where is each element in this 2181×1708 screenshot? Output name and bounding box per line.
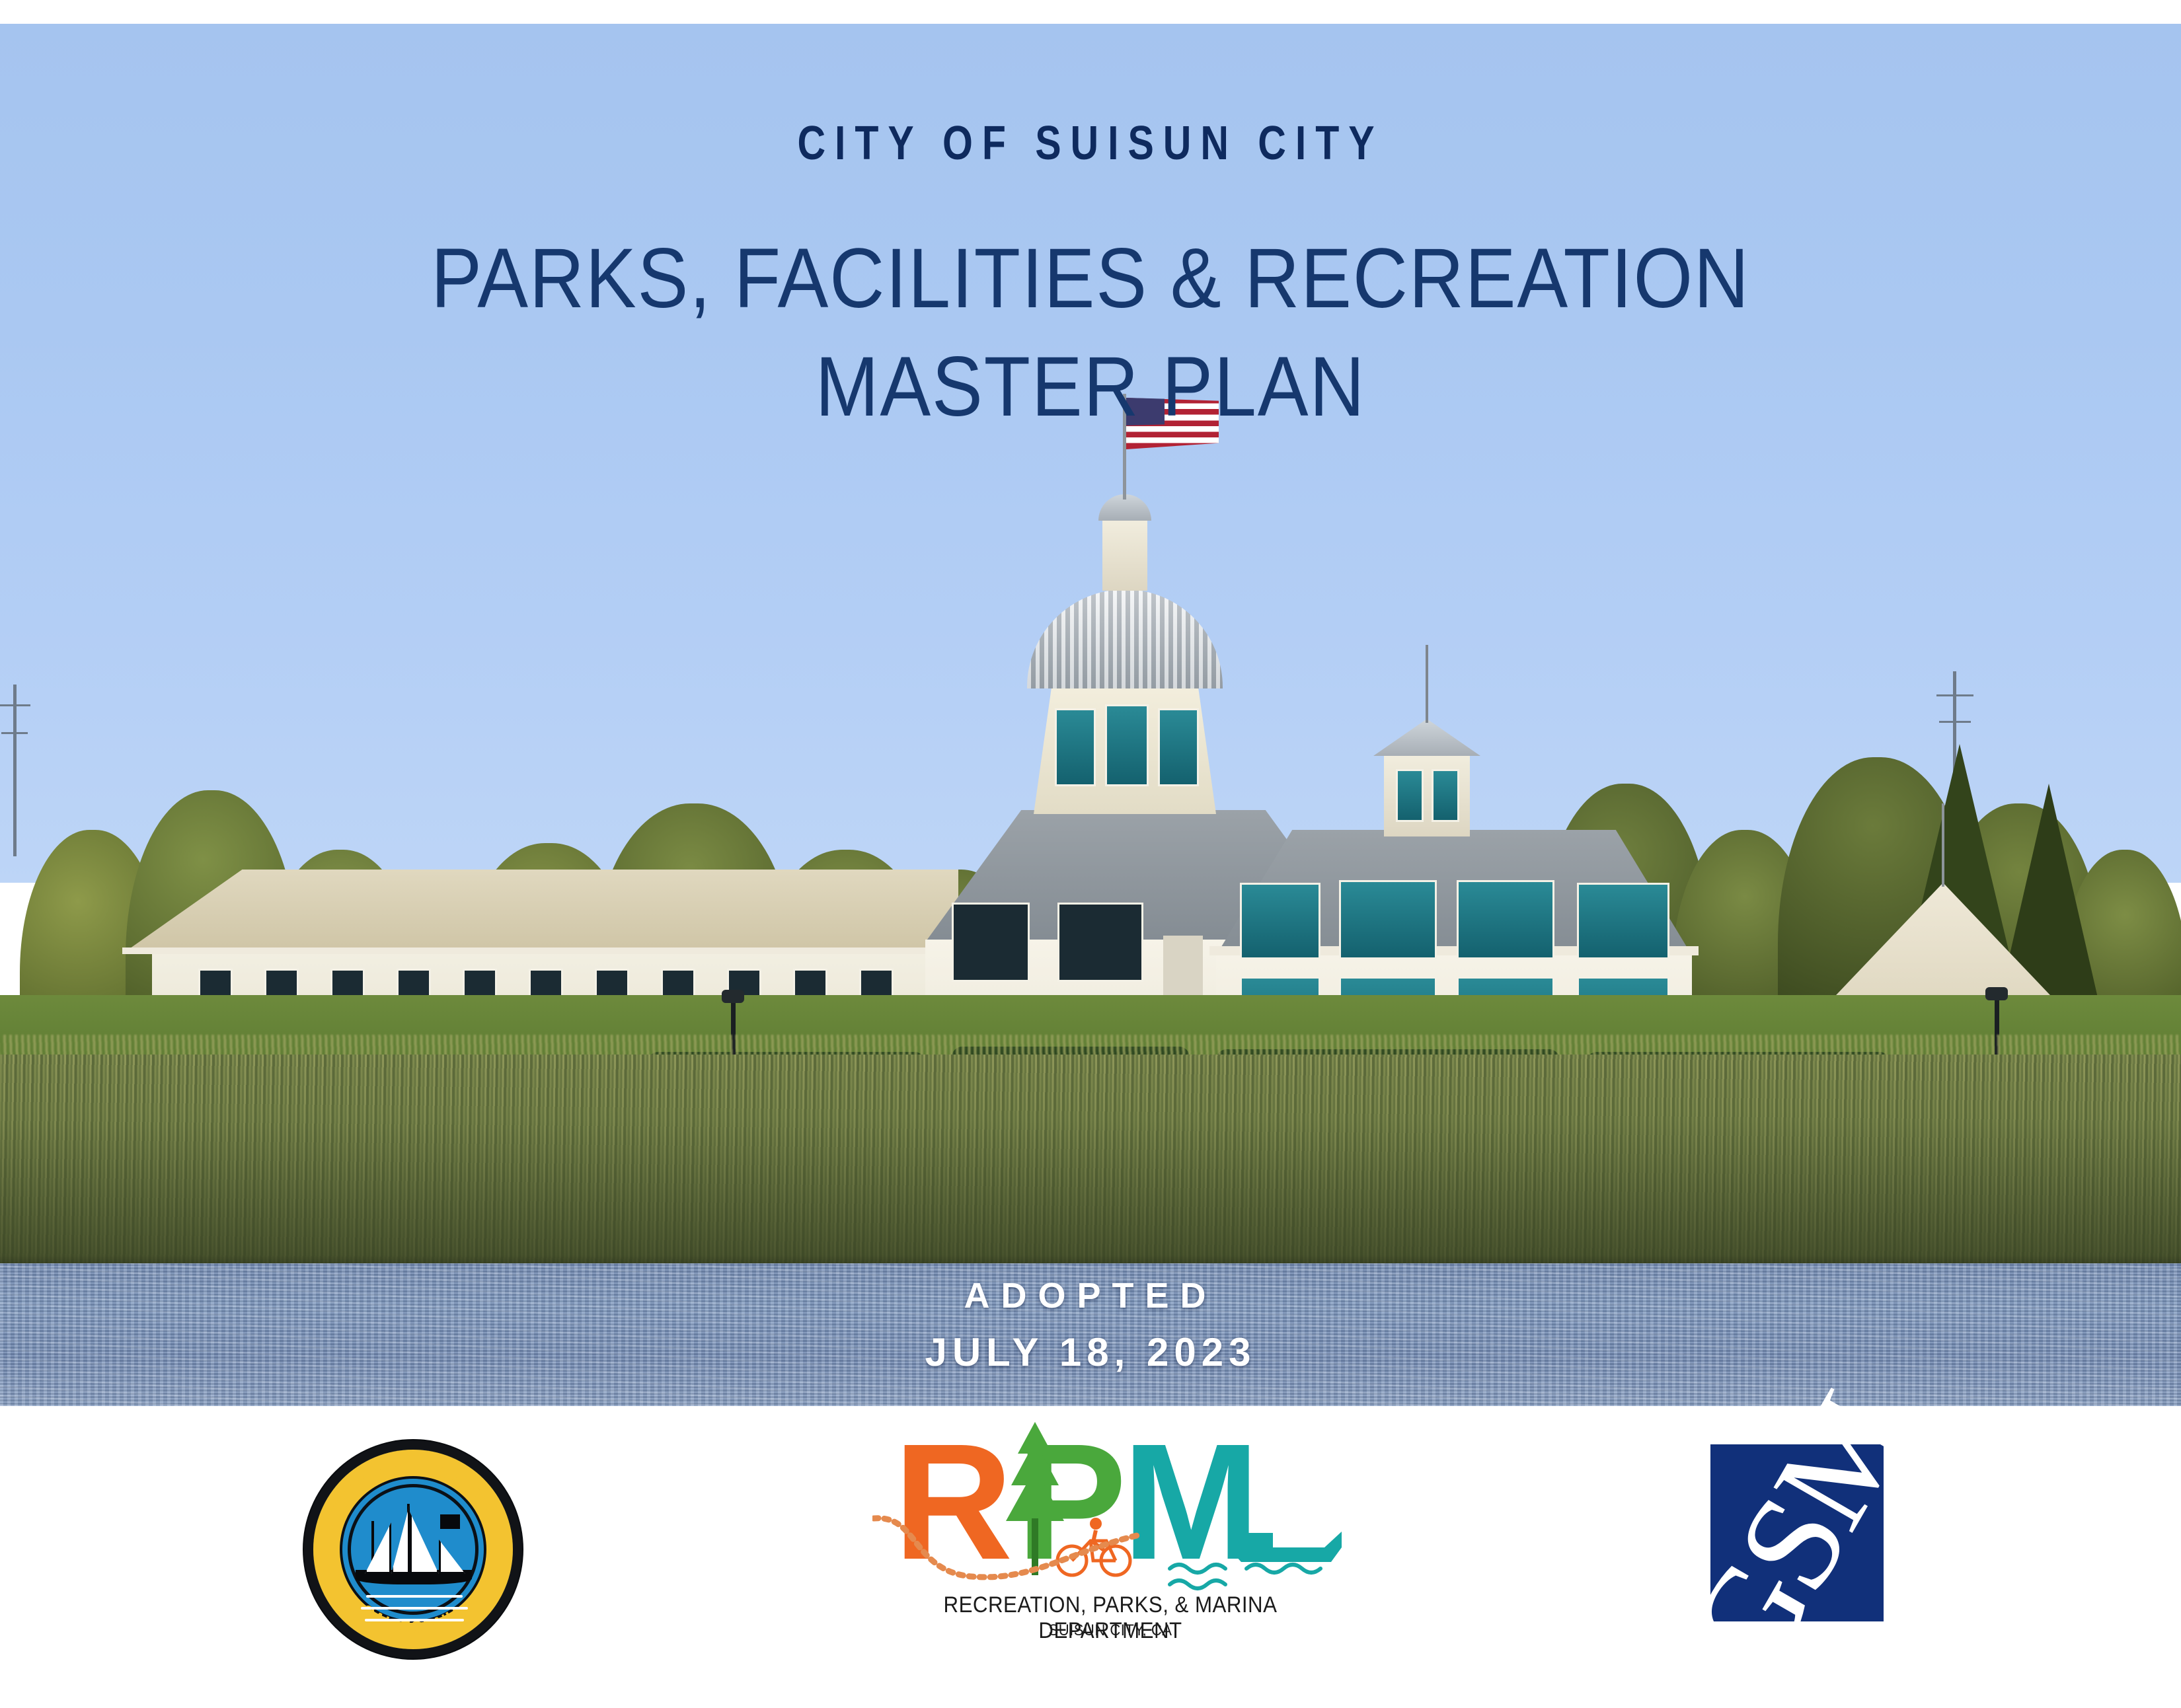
- seal-dot: [487, 1543, 498, 1555]
- rpm-subcaption: SUISUN CITY, CA: [898, 1621, 1323, 1640]
- cover-page: CITY OF SUISUN CITY PARKS, FACILITIES & …: [0, 0, 2181, 1685]
- antenna-crossbars-right-2: [1939, 721, 1971, 723]
- seal-wave: [361, 1607, 468, 1610]
- rpm-lettermark: R P M: [879, 1426, 1342, 1584]
- top-white-margin: [0, 0, 2181, 24]
- adopted-label: ADOPTED: [0, 1275, 2181, 1316]
- lamp-head: [1985, 987, 2008, 1000]
- trail-icon: [872, 1508, 1150, 1587]
- city-seal-logo: CITY OF SUISUN CITY CALIFORNIA: [304, 1440, 522, 1658]
- outbuilding-spire: [1942, 803, 1944, 887]
- dome-drum-window: [1158, 708, 1199, 786]
- seal-pennant: [440, 1514, 460, 1529]
- cupola-window: [1432, 769, 1459, 822]
- seal-text-top: CITY OF SUISUN CITY: [322, 1459, 504, 1530]
- window: [1577, 883, 1669, 959]
- footer-logo-bar: CITY OF SUISUN CITY CALIFORNIA: [0, 1406, 2181, 1685]
- left-wing-eave: [122, 947, 962, 954]
- window: [1339, 880, 1437, 959]
- dome-drum-window: [1105, 704, 1149, 786]
- marsh-reeds: [0, 1055, 2181, 1273]
- city-seal: CITY OF SUISUN CITY CALIFORNIA: [304, 1440, 522, 1658]
- seal-dot: [482, 1581, 493, 1592]
- page-title-line-1: PARKS, FACILITIES & RECREATION: [109, 225, 2072, 333]
- window: [1057, 903, 1143, 982]
- rpm-logo: R P M: [879, 1422, 1342, 1640]
- cupola-spire: [1426, 645, 1428, 723]
- seal-dot: [350, 1611, 361, 1622]
- page-title: PARKS, FACILITIES & RECREATION MASTER PL…: [109, 225, 2072, 441]
- gsm-lettermark: GSM: [1662, 1395, 1933, 1674]
- lamp-head: [722, 990, 744, 1003]
- seal-wave: [366, 1595, 463, 1598]
- dome-drum-window: [1055, 708, 1096, 786]
- window: [1240, 883, 1320, 959]
- left-wing-roof: [126, 870, 958, 951]
- cupola: [1102, 517, 1147, 591]
- seal-dot: [333, 1581, 344, 1592]
- page-title-line-2: MASTER PLAN: [109, 333, 2072, 441]
- antenna-crossbars-right: [1936, 694, 1973, 696]
- window: [952, 903, 1030, 982]
- adopted-date: JULY 18, 2023: [0, 1329, 2181, 1375]
- seal-dot: [328, 1543, 339, 1555]
- page-kicker: CITY OF SUISUN CITY: [196, 116, 1985, 170]
- seal-dot: [465, 1611, 477, 1622]
- cupola-window: [1396, 769, 1424, 822]
- window: [1457, 880, 1554, 959]
- seal-wave: [365, 1619, 464, 1621]
- antenna-crossbars-left: [0, 704, 30, 706]
- gsm-logo: GSM: [1699, 1429, 1917, 1647]
